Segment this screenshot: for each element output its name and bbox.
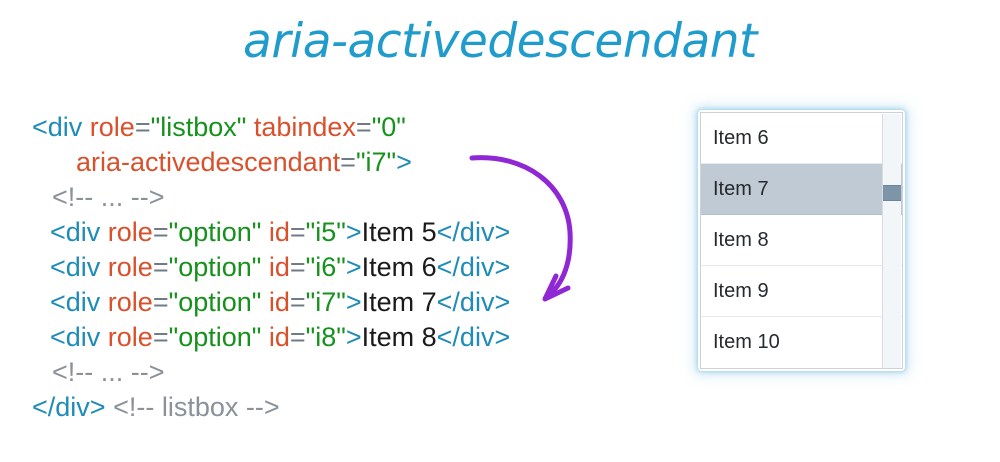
listbox-option[interactable]: Item 10	[701, 317, 902, 368]
code-token-eq: =	[153, 252, 169, 282]
code-token-tag: >	[346, 217, 362, 247]
code-token-tag: <div	[50, 322, 108, 352]
listbox-option-label: Item 6	[713, 127, 769, 150]
code-token-txt: Item 5	[362, 217, 437, 247]
code-token-eq: =	[153, 217, 169, 247]
code-line: <div role="option" id="i8">Item 8</div>	[32, 320, 510, 355]
code-token-tag: </div>	[32, 392, 106, 422]
code-token-eq: =	[153, 287, 169, 317]
code-line: aria-activedescendant="i7">	[32, 145, 510, 180]
code-token-val: "option"	[169, 217, 262, 247]
code-token-val: "i8"	[306, 322, 346, 352]
code-token-val: "listbox"	[151, 112, 247, 142]
code-token-txt: Item 7	[362, 287, 437, 317]
code-token-tag: <div	[32, 112, 90, 142]
code-token-attr: role	[108, 217, 153, 247]
code-token-tag: >	[346, 287, 362, 317]
code-token-tag: <div	[50, 217, 108, 247]
code-token-tag: >	[396, 147, 412, 177]
code-token-eq: =	[135, 112, 151, 142]
code-token-val: "0"	[372, 112, 406, 142]
code-token-val: "i6"	[306, 252, 346, 282]
listbox-focus-ring: Item 6Item 7Item 8Item 9Item 10	[700, 112, 903, 369]
code-token-attr: id	[269, 217, 290, 247]
listbox-option-label: Item 10	[713, 331, 780, 354]
code-token-cmt: <!-- ... -->	[52, 182, 165, 212]
code-token-cmt: <!-- listbox -->	[113, 392, 280, 422]
code-token-tag: >	[346, 252, 362, 282]
code-token-attr: role	[108, 322, 153, 352]
code-token-eq: =	[290, 287, 306, 317]
listbox-widget[interactable]: Item 6Item 7Item 8Item 9Item 10	[700, 112, 903, 369]
code-line: <!-- ... -->	[32, 355, 510, 390]
code-token-attr: role	[108, 252, 153, 282]
code-token-attr: role	[90, 112, 135, 142]
code-token-val: "i7"	[356, 147, 396, 177]
listbox-option[interactable]: Item 6	[701, 113, 902, 164]
code-snippet: <div role="listbox" tabindex="0"aria-act…	[32, 110, 510, 425]
code-token-txt	[246, 112, 254, 142]
code-line: <div role="option" id="i7">Item 7</div>	[32, 285, 510, 320]
code-token-eq: =	[290, 217, 306, 247]
listbox-option-label: Item 9	[713, 280, 769, 303]
listbox-option-label: Item 8	[713, 229, 769, 252]
slide-canvas: aria-activedescendant <div role="listbox…	[0, 0, 1000, 462]
code-token-eq: =	[356, 112, 372, 142]
code-token-txt	[261, 322, 269, 352]
code-token-cmt: <!-- ... -->	[52, 357, 165, 387]
listbox-option-label: Item 7	[713, 178, 769, 201]
code-token-val: "i5"	[306, 217, 346, 247]
code-line: <!-- ... -->	[32, 180, 510, 215]
code-token-val: "option"	[169, 322, 262, 352]
code-token-txt: Item 8	[362, 322, 437, 352]
scrollbar-thumb[interactable]	[883, 185, 901, 201]
code-token-txt: Item 6	[362, 252, 437, 282]
code-token-attr: id	[269, 287, 290, 317]
code-line: <div role="listbox" tabindex="0"	[32, 110, 510, 145]
code-token-tag: </div>	[437, 322, 511, 352]
code-token-tag: <div	[50, 287, 108, 317]
code-token-attr: tabindex	[254, 112, 356, 142]
code-token-eq: =	[340, 147, 356, 177]
code-token-tag: >	[346, 322, 362, 352]
page-title: aria-activedescendant	[0, 14, 1000, 69]
code-token-val: "option"	[169, 252, 262, 282]
listbox-option-active[interactable]: Item 7	[701, 164, 902, 215]
code-token-eq: =	[290, 252, 306, 282]
code-token-attr: id	[269, 252, 290, 282]
code-line: </div> <!-- listbox -->	[32, 390, 510, 425]
listbox-options[interactable]: Item 6Item 7Item 8Item 9Item 10	[701, 113, 902, 368]
code-line: <div role="option" id="i5">Item 5</div>	[32, 215, 510, 250]
annotation-arrow	[455, 140, 625, 320]
listbox-option[interactable]: Item 8	[701, 215, 902, 266]
code-token-eq: =	[290, 322, 306, 352]
code-token-tag: <div	[50, 252, 108, 282]
code-token-val: "i7"	[306, 287, 346, 317]
code-token-txt	[261, 217, 269, 247]
code-token-txt	[106, 392, 114, 422]
code-token-txt	[261, 252, 269, 282]
code-token-txt	[261, 287, 269, 317]
code-token-val: "option"	[169, 287, 262, 317]
listbox-option[interactable]: Item 9	[701, 266, 902, 317]
code-token-attr: id	[269, 322, 290, 352]
code-token-attr: role	[108, 287, 153, 317]
code-token-attr: aria-activedescendant	[76, 147, 340, 177]
code-token-eq: =	[153, 322, 169, 352]
listbox-scrollbar[interactable]	[882, 114, 901, 369]
code-line: <div role="option" id="i6">Item 6</div>	[32, 250, 510, 285]
